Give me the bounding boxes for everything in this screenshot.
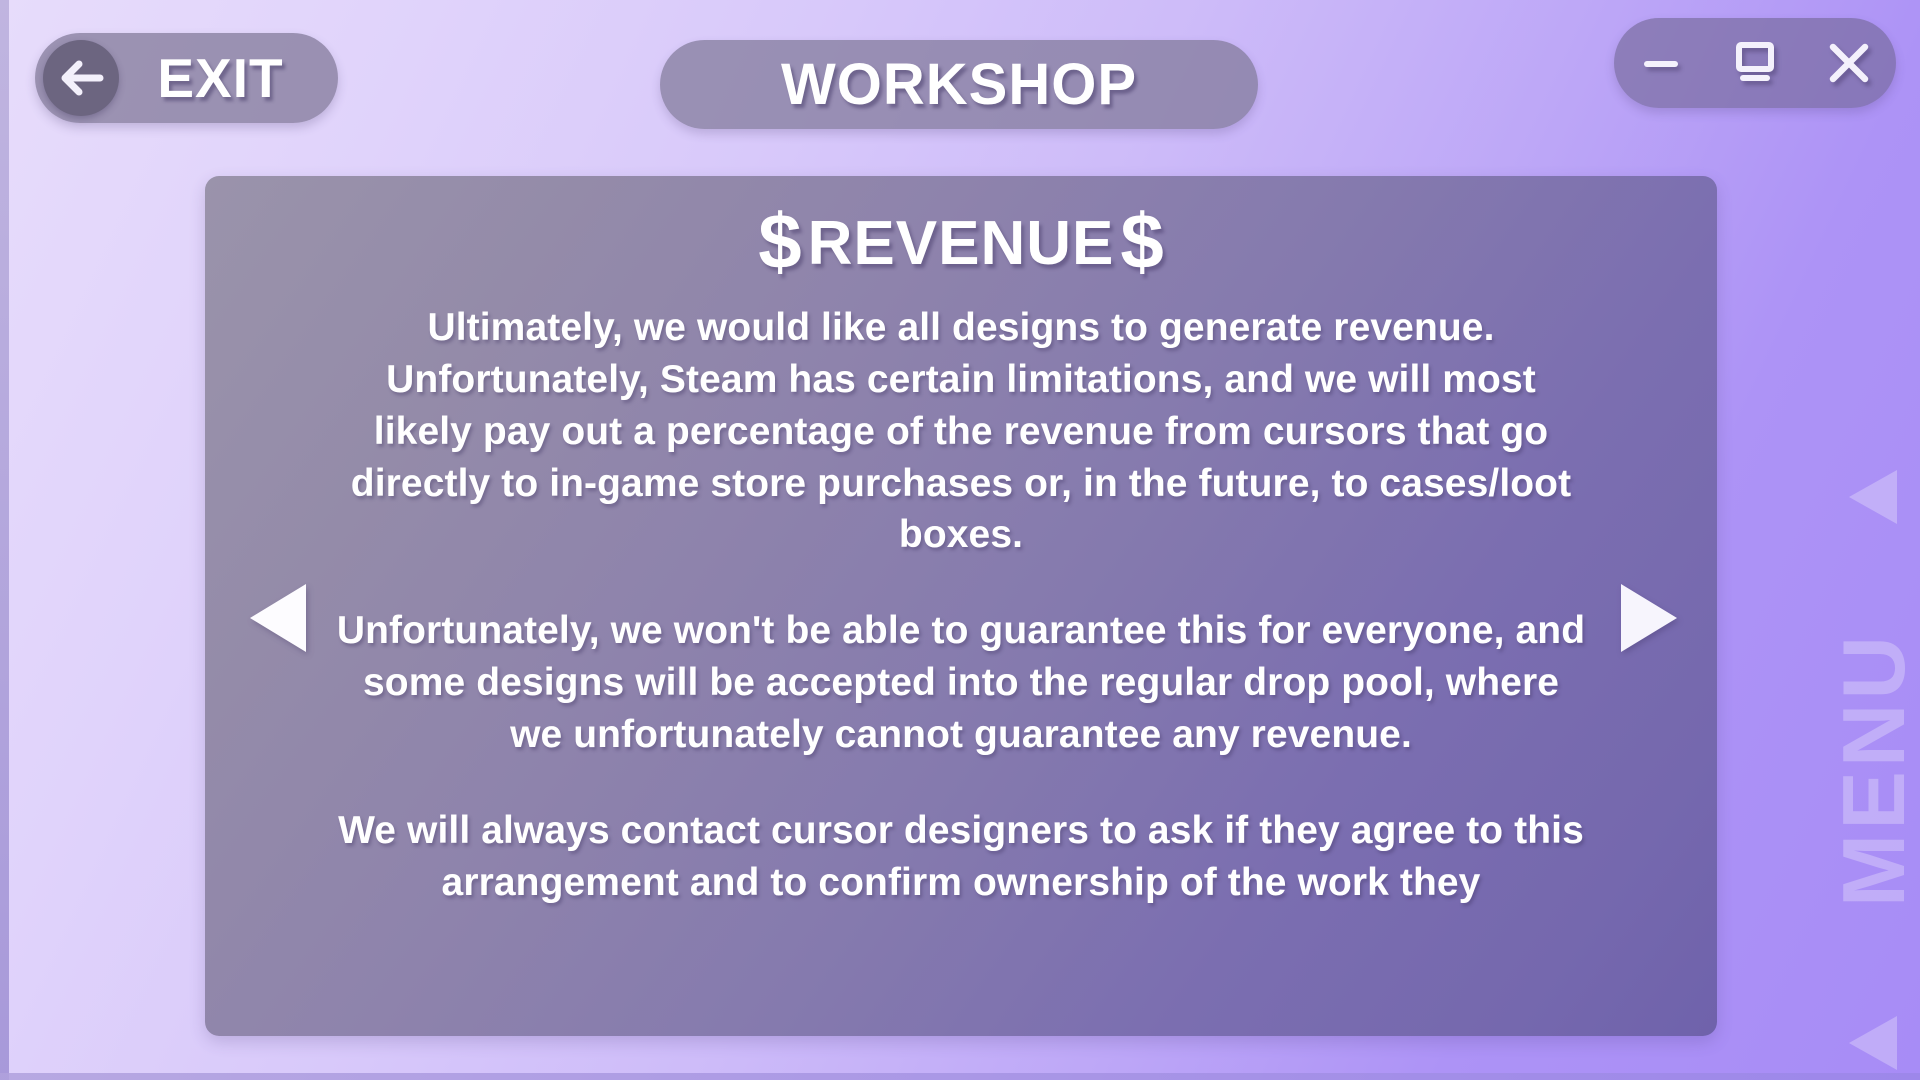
triangle-left-icon (1847, 466, 1901, 528)
menu-tab-label: MENU (1830, 632, 1918, 907)
dollar-sign-left-icon: $ (758, 197, 801, 285)
paragraph: We will always contact cursor designers … (336, 805, 1586, 909)
exit-button-label: EXIT (119, 51, 338, 106)
panel-heading: $REVENUE$ (205, 202, 1717, 280)
paragraph: Unfortunately, we won't be able to guara… (336, 605, 1586, 761)
next-page-button[interactable] (1617, 578, 1679, 658)
exit-button[interactable]: EXIT (35, 33, 338, 123)
triangle-right-icon (1617, 578, 1679, 658)
window-controls (1614, 18, 1896, 108)
triangle-left-icon (248, 578, 310, 658)
page-title-text: WORKSHOP (781, 56, 1137, 114)
panel-body: Ultimately, we would like all designs to… (336, 302, 1586, 909)
minimize-button[interactable] (1626, 28, 1696, 98)
close-button[interactable] (1814, 28, 1884, 98)
triangle-left-icon (1847, 1012, 1901, 1074)
minimize-icon (1636, 38, 1686, 88)
info-panel: $REVENUE$ Ultimately, we would like all … (205, 176, 1717, 1036)
game-screen: EXIT WORKSHOP (0, 0, 1920, 1080)
dollar-sign-right-icon: $ (1120, 197, 1163, 285)
close-x-icon (1822, 36, 1876, 90)
menu-tab[interactable]: MENU (1828, 460, 1920, 1080)
arrow-left-icon (43, 40, 119, 116)
paragraph: Ultimately, we would like all designs to… (336, 302, 1586, 561)
previous-page-button[interactable] (248, 578, 310, 658)
top-bar: EXIT WORKSHOP (0, 0, 1920, 150)
maximize-button[interactable] (1720, 28, 1790, 98)
panel-heading-text: REVENUE (802, 209, 1121, 278)
page-title: WORKSHOP (660, 40, 1258, 129)
maximize-monitor-icon (1728, 36, 1782, 90)
